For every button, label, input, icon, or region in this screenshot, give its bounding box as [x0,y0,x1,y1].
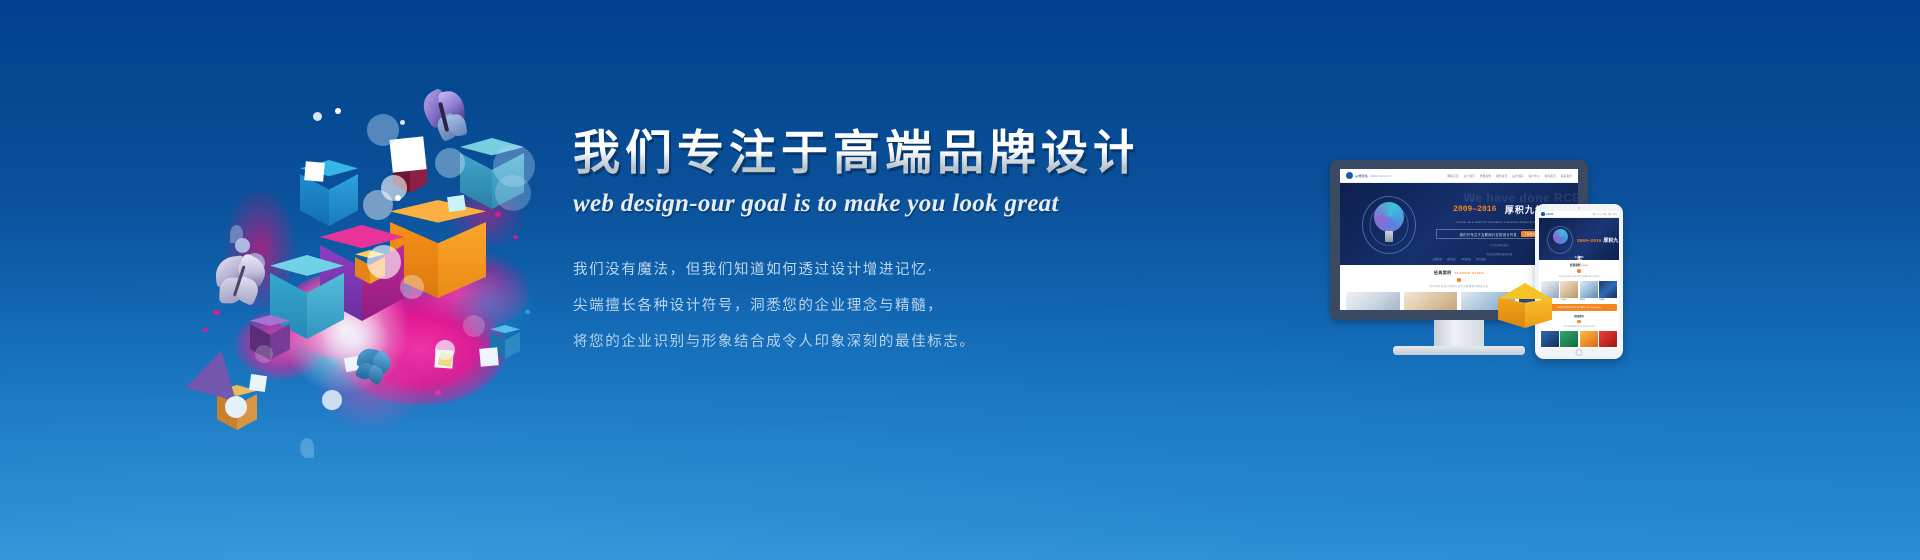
tablet-section-title-text: 经典案例 [1570,264,1580,267]
hero-tag[interactable]: 品牌策划 [1432,257,1442,261]
card-caption: 文具设计 [1560,299,1578,301]
tablet-site-navbar: 尖端网络 首页 关于 案例 服务 联系 [1539,211,1619,218]
site-menu-item[interactable]: 网站首页 [1448,174,1459,178]
monitor-stand-base [1393,346,1525,355]
page-subtitle: web design-our goal is to make you look … [573,190,1133,218]
menu-item[interactable]: 联系 [1613,213,1617,216]
tablet-section-title: 经典案例 CASES [1539,260,1619,267]
lightbulb-illustration-icon [1362,196,1416,254]
menu-item[interactable]: 案例 [1603,213,1607,216]
news-thumbnail[interactable] [1580,331,1598,347]
body-line-3: 将您的企业识别与形象结合成令人印象深刻的最佳标志。 [573,330,1133,354]
body-line-2: 尖端擅长各种设计符号，洞悉您的企业理念与精髓， [573,294,1133,318]
front-camera-icon [1578,207,1580,209]
tablet-hero-year: 2009—2016 [1577,239,1601,244]
logo-mark-icon [1346,172,1353,179]
site-menu-item[interactable]: 关于我们 [1464,174,1475,178]
home-button-icon[interactable] [1576,349,1583,356]
hero-year: 2009—2016 [1453,205,1496,214]
device-mockups: 尖端网络 WEB DESIGN 网站首页 关于我们 经典案例 服务项目 设计团队… [1330,160,1660,380]
card-caption: 科技蓝 [1599,299,1617,301]
tablet-card[interactable]: 文具设计 [1560,281,1578,301]
menu-item[interactable]: 服务 [1608,213,1612,216]
monitor-stand-neck [1434,320,1484,346]
hero-tag[interactable]: 网站建设 [1462,257,1472,261]
bulb-glass [1374,202,1404,232]
site-logo-subtext: WEB DESIGN [1370,174,1391,178]
section-title-text: 经典案例 [1434,270,1452,275]
site-menu-item[interactable]: 服务项目 [1496,174,1507,178]
carousel-dot[interactable] [1578,256,1580,258]
body-line-1: 我们没有魔法，但我们知道如何透过设计增进记忆· [573,258,1133,282]
site-menu-item[interactable]: 客户中心 [1528,174,1539,178]
menu-item[interactable]: 关于 [1598,213,1602,216]
hero-tag-row[interactable]: 品牌策划 视觉设计 网站建设 整合营销 [1432,257,1485,261]
hero-tag[interactable]: 整合营销 [1476,257,1486,261]
carousel-dot[interactable] [1575,256,1577,258]
gold-cube-decoration [1498,283,1552,339]
bulb-base [1385,231,1393,242]
case-thumbnail[interactable] [1404,292,1458,311]
hero-copy: 我们专注于高端品牌设计 web design-our goal is to ma… [573,128,1133,366]
abstract-artwork [195,60,585,460]
site-menu-item[interactable]: 新闻资讯 [1545,174,1556,178]
tablet-menu[interactable]: 首页 关于 案例 服务 联系 [1593,213,1617,216]
tablet-cta-banner[interactable]: 立即咨询我们的专业设计顾问 400-000-0000 [1541,304,1617,311]
card-thumbnail [1560,281,1578,298]
lightbulb-illustration-icon [1547,226,1573,254]
hero-cta-text: 我们只专注于互联网行业的设计开发 [1460,232,1517,237]
site-navbar: 尖端网络 WEB DESIGN 网站首页 关于我们 经典案例 服务项目 设计团队… [1340,169,1578,183]
bulb-glass [1553,229,1568,244]
section-accent-dot [1457,278,1461,282]
carousel-dots[interactable] [1575,256,1584,258]
hero-banner: 我们专注于高端品牌设计 web design-our goal is to ma… [0,0,1920,560]
card-thumbnail [1599,281,1617,298]
section-accent-dot [1577,320,1581,324]
site-menu-item[interactable]: 联系我们 [1561,174,1572,178]
site-logo: 尖端网络 WEB DESIGN [1346,172,1391,179]
card-caption: 移动端 [1580,299,1598,301]
site-menu[interactable]: 网站首页 关于我们 经典案例 服务项目 设计团队 客户中心 新闻资讯 联系我们 [1448,174,1573,178]
logo-mark-icon [1541,212,1545,216]
tablet-logo-text: 尖端网络 [1546,213,1554,216]
cube-top-face [1498,283,1552,299]
body-copy: 我们没有魔法，但我们知道如何透过设计增进记忆· 尖端擅长各种设计符号，洞悉您的企… [573,258,1133,354]
section-accent-dot [1577,269,1581,273]
tablet-cta-text: 立即咨询我们的专业设计顾问 400-000-0000 [1557,306,1601,309]
section-title-en: CLASSIC CASES [1455,271,1485,275]
site-menu-item[interactable]: 经典案例 [1480,174,1491,178]
site-menu-item[interactable]: 设计团队 [1512,174,1523,178]
news-thumbnail[interactable] [1599,331,1617,347]
hero-tag[interactable]: 视觉设计 [1447,257,1457,261]
tablet-hero-text: 2009—2016厚积九年 我们只专注于互联网行业的设计开发 [1577,229,1619,260]
tablet-card[interactable]: 移动端 [1580,281,1598,301]
site-logo-text: 尖端网络 [1355,174,1368,178]
news-thumbnail[interactable] [1560,331,1578,347]
carousel-dot[interactable] [1582,256,1584,258]
cube-left-face [1498,298,1525,328]
tablet-section-title-en: CASES [1581,265,1588,267]
tablet-card[interactable]: 科技蓝 [1599,281,1617,301]
cube-right-face [1525,298,1552,328]
tablet-hero: 2009—2016厚积九年 我们只专注于互联网行业的设计开发 [1539,218,1619,260]
case-thumbnail[interactable] [1346,292,1400,311]
butterfly-left [208,250,281,320]
menu-item[interactable]: 首页 [1593,213,1597,216]
card-thumbnail [1580,281,1598,298]
page-title: 我们专注于高端品牌设计 [573,128,1133,178]
